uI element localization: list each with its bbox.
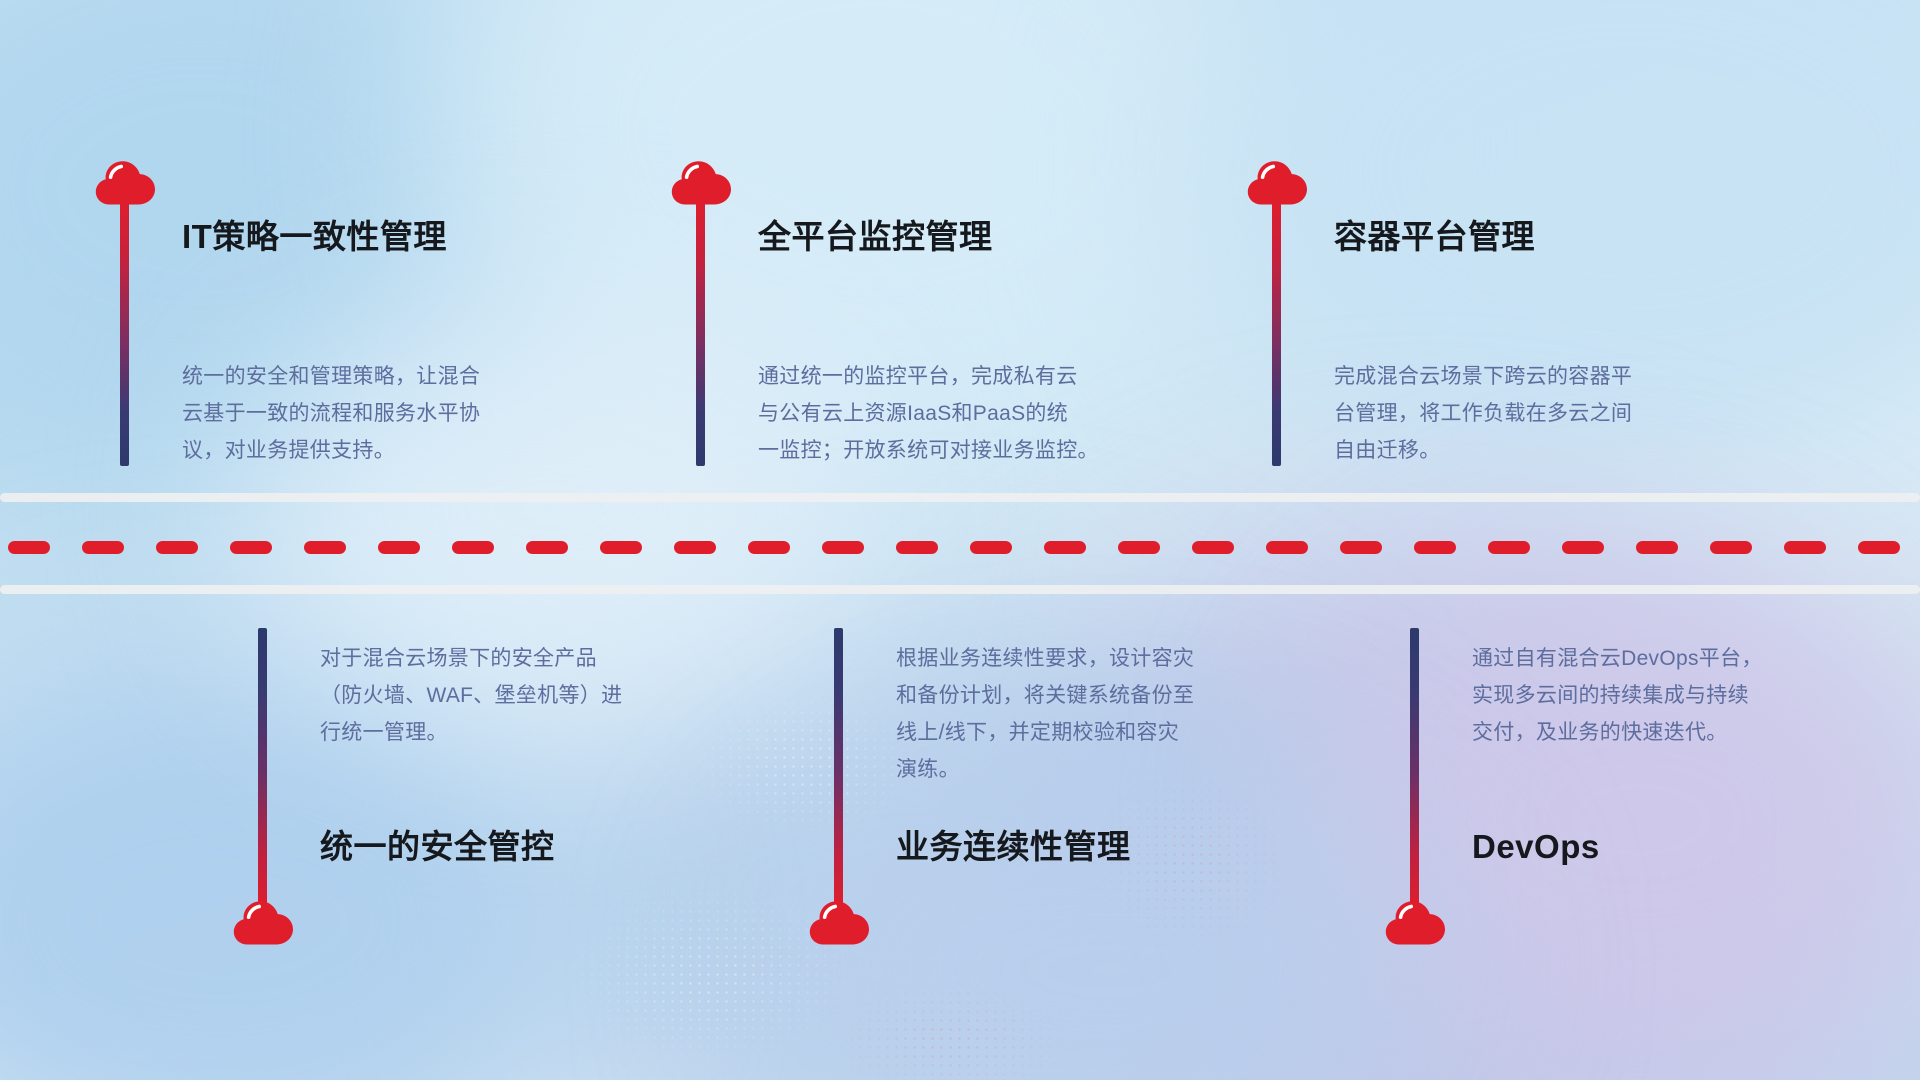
panel-body-text: 通过自有混合云DevOps平台， 实现多云间的持续集成与持续 交付，及业务的快速… [1472,640,1902,751]
panel-title: 全平台监控管理 [758,220,993,253]
connector-stem [120,196,129,466]
divider-dash [748,541,790,554]
panel-body-text: 根据业务连续性要求，设计容灾 和备份计划，将关键系统备份至 线上/线下，并定期校… [896,640,1346,788]
divider-dash [156,541,198,554]
divider-dashed-rule [0,541,1920,554]
divider-dash [822,541,864,554]
background-gradient-blob [980,520,1880,1080]
divider-dash [1488,541,1530,554]
divider-dash [304,541,346,554]
divider-dash [1414,541,1456,554]
divider-dash [1192,541,1234,554]
cloud-icon [809,898,871,946]
divider-dash [378,541,420,554]
divider-dash [1784,541,1826,554]
panel-body-text: 完成混合云场景下跨云的容器平 台管理，将工作负载在多云之间 自由迁移。 [1334,358,1784,469]
connector-stem [1410,628,1419,910]
panel-body-text: 对于混合云场景下的安全产品 （防火墙、WAF、堡垒机等）进 行统一管理。 [320,640,760,751]
connector-stem [1272,196,1281,466]
divider-dash [1858,541,1900,554]
panel-title: DevOps [1472,830,1600,863]
panel-body-text: 通过统一的监控平台，完成私有云 与公有云上资源IaaS和PaaS的统 一监控；开… [758,358,1228,469]
cloud-icon [233,898,295,946]
divider-dash [1266,541,1308,554]
dot-texture [820,980,1080,1080]
divider-solid-rule-top [0,493,1920,502]
divider-dash [600,541,642,554]
panel-title: 业务连续性管理 [896,830,1131,863]
divider-dash [1710,541,1752,554]
infographic-canvas: IT策略一致性管理 统一的安全和管理策略，让混合 云基于一致的流程和服务水平协 … [0,0,1920,1080]
connector-stem [258,628,267,910]
cloud-icon [1385,898,1447,946]
divider-dash [8,541,50,554]
divider-dash [674,541,716,554]
connector-stem [834,628,843,910]
panel-title: 容器平台管理 [1334,220,1535,253]
divider-dash [1636,541,1678,554]
panel-title: 统一的安全管控 [320,830,555,863]
divider-dash [1118,541,1160,554]
divider-dash [1562,541,1604,554]
divider-dash [1044,541,1086,554]
divider-dash [1340,541,1382,554]
divider-dash [526,541,568,554]
divider-dash [896,541,938,554]
divider-solid-rule-bottom [0,585,1920,594]
divider-dash [452,541,494,554]
panel-title: IT策略一致性管理 [182,220,447,253]
divider-dash [82,541,124,554]
panel-body-text: 统一的安全和管理策略，让混合 云基于一致的流程和服务水平协 议，对业务提供支持。 [182,358,622,469]
divider-dash [230,541,272,554]
connector-stem [696,196,705,466]
divider-dash [970,541,1012,554]
